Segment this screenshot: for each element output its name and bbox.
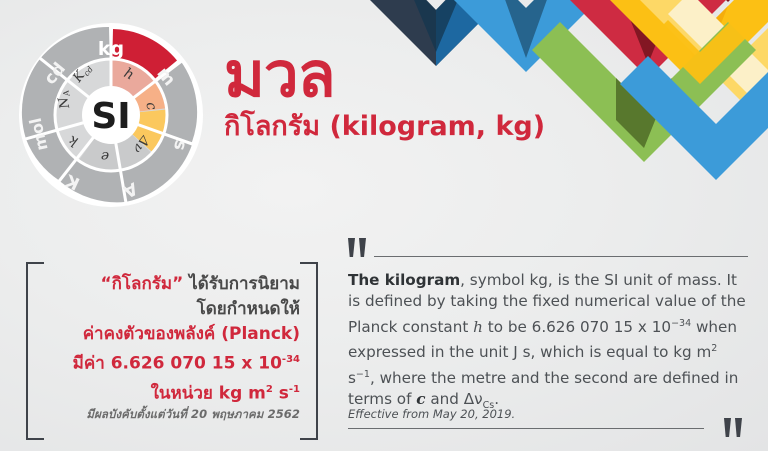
thai-effective-date: มีผลบังคับตั้งแต่วันที่ 20 พฤษภาคม 2562 (86, 406, 300, 424)
quote-close-icon (724, 418, 746, 437)
english-definition-panel: The kilogram, symbol kg, is the SI unit … (348, 236, 748, 441)
english-definition-text: The kilogram, symbol kg, is the SI unit … (348, 270, 748, 417)
divider-bottom (348, 428, 704, 429)
thai-line-5-sup-2: 2 (266, 384, 273, 395)
thai-line-1: “กิโลกรัม” ได้รับการนิยาม (42, 272, 300, 297)
english-body-5: , where the metre and the second are def… (348, 369, 738, 408)
bracket-right (300, 262, 318, 440)
si-units-wheel: SI kg m s A K mol cd h c Δν e k N A K cd (18, 22, 204, 208)
thai-line-1-rest: ได้รับการนิยาม (183, 274, 300, 294)
thai-quoted-term: “กิโลกรัม” (100, 274, 183, 294)
page-subtitle: กิโลกรัม (kilogram, kg) (224, 112, 545, 142)
page-title: มวล (224, 44, 545, 106)
english-italic-h: h (473, 318, 483, 336)
thai-line-3-text: ค่าคงตัวของพลังค์ (Planck) (83, 324, 300, 344)
english-effective-date: Effective from May 20, 2019. (348, 407, 515, 421)
unit-label-kg: kg (98, 38, 124, 60)
thai-line-3: ค่าคงตัวของพลังค์ (Planck) (42, 322, 300, 347)
english-body-2: to be 6.626 070 15 x 10 (483, 318, 671, 336)
constant-label-e: e (101, 148, 109, 164)
thai-line-5-text-2: s (273, 383, 289, 403)
divider-top (374, 256, 748, 257)
thai-definition-text: “กิโลกรัม” ได้รับการนิยาม โดยกำหนดให้ ค่… (42, 272, 300, 406)
thai-definition-panel: “กิโลกรัม” ได้รับการนิยาม โดยกำหนดให้ ค่… (26, 262, 318, 440)
english-italic-c: c (416, 390, 425, 408)
thai-line-2: โดยกำหนดให้ (42, 297, 300, 322)
thai-line-5: ในหน่วย kg m2 s-1 (42, 377, 300, 407)
si-core-label: SI (91, 96, 130, 137)
english-body-6: and Δν (426, 390, 483, 408)
thai-line-2-text: โดยกำหนดให้ (197, 299, 300, 319)
title-block: มวล กิโลกรัม (kilogram, kg) (224, 44, 545, 142)
quote-open-icon (348, 238, 370, 257)
thai-line-4: มีค่า 6.626 070 15 x 10-34 (42, 347, 300, 377)
english-body-4: s (348, 369, 356, 387)
english-sup-minus1: −1 (356, 369, 370, 380)
thai-line-5-text: ในหน่วย kg m (151, 383, 266, 403)
english-sup-2: 2 (711, 343, 717, 354)
english-exponent: −34 (671, 318, 691, 329)
english-body-7: . (494, 390, 499, 408)
thai-line-4-exponent: -34 (282, 354, 300, 365)
thai-line-5-sup-3: -1 (289, 384, 300, 395)
infographic-canvas: SI kg m s A K mol cd h c Δν e k N A K cd (0, 0, 768, 451)
english-lead-term: The kilogram (348, 271, 460, 289)
thai-line-4-text: มีค่า 6.626 070 15 x 10 (73, 354, 282, 374)
